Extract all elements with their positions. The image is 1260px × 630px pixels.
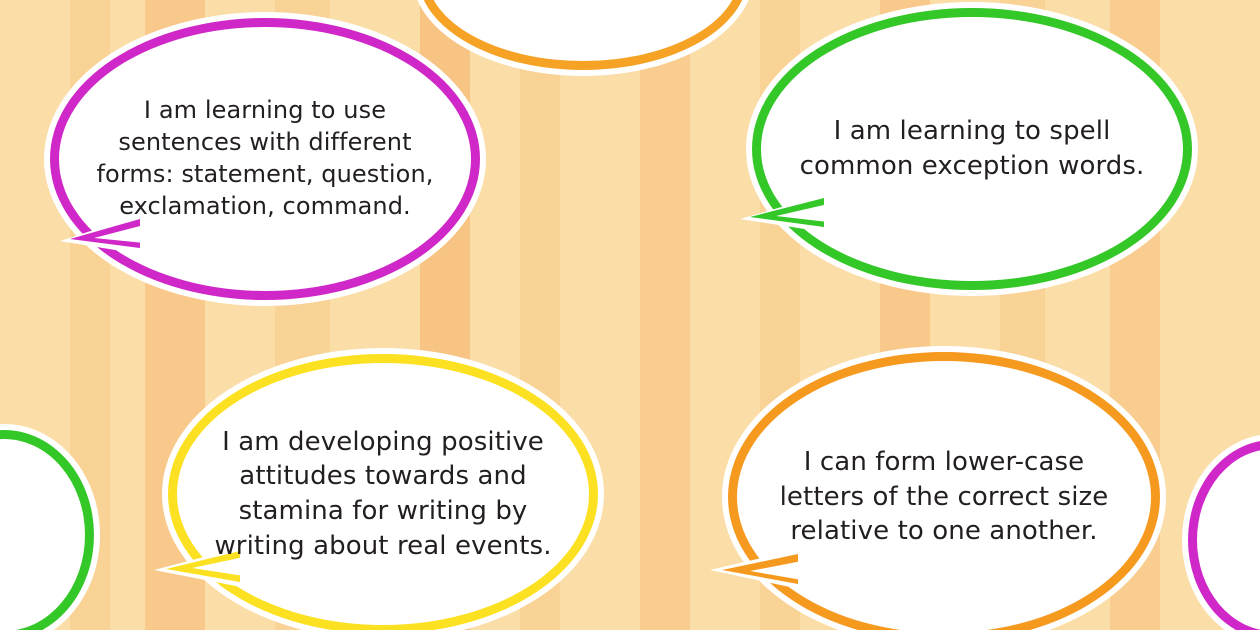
speech-bubble-left-edge xyxy=(0,430,94,630)
bubble-text-orange: I can form lower-case letters of the cor… xyxy=(728,352,1160,630)
bubble-text-left-edge xyxy=(0,430,94,630)
speech-bubble-orange: I can form lower-case letters of the cor… xyxy=(728,352,1160,630)
speech-bubble-purple: I am learning to use sentences with diff… xyxy=(50,18,480,300)
speech-bubble-right-edge xyxy=(1188,440,1260,630)
speech-bubble-yellow: I am developing positive attitudes towar… xyxy=(168,354,598,630)
speech-bubble-green: I am learning to spell common exception … xyxy=(752,8,1192,290)
bubble-text-green: I am learning to spell common exception … xyxy=(752,8,1192,290)
bubble-text-yellow: I am developing positive attitudes towar… xyxy=(168,354,598,630)
bubble-text-right-edge xyxy=(1188,440,1260,630)
poster-canvas: I am learning to use sentences with diff… xyxy=(0,0,1260,630)
bubble-text-purple: I am learning to use sentences with diff… xyxy=(50,18,480,300)
